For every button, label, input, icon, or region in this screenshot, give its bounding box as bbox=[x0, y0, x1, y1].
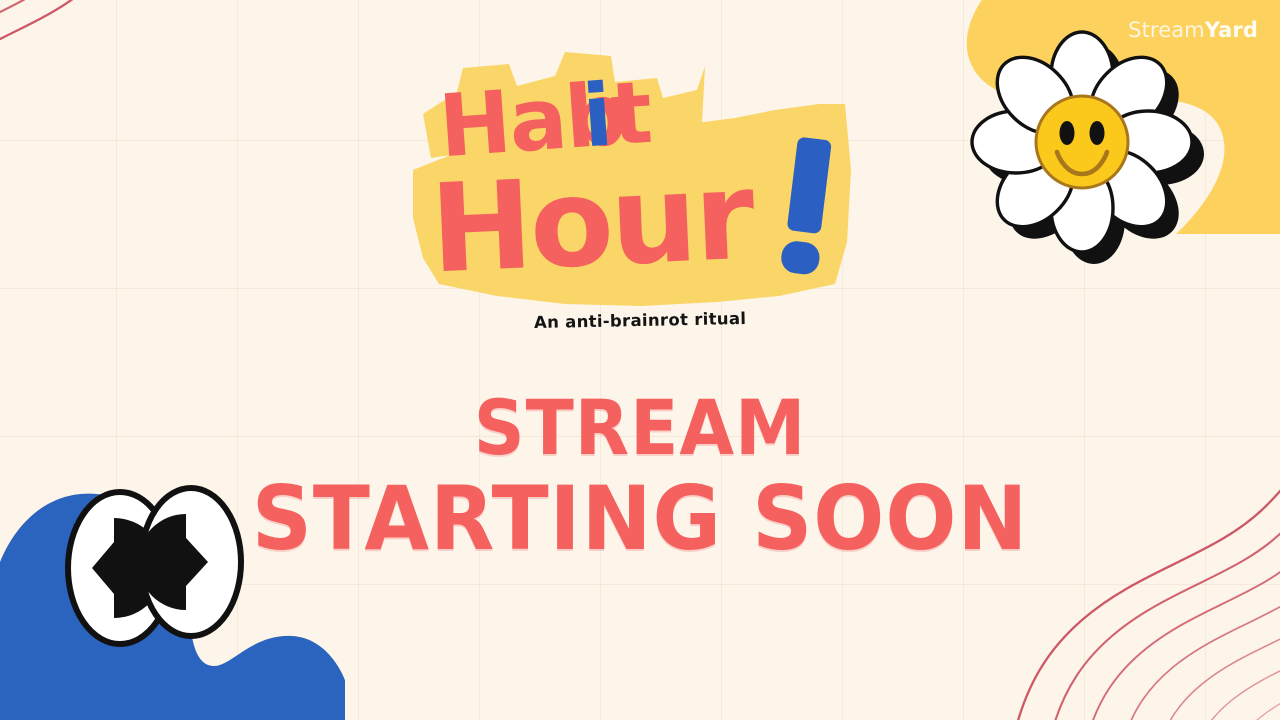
headline-line-1: STREAM bbox=[45, 392, 1235, 465]
logo-svg: Hab i t Hour bbox=[405, 52, 875, 317]
habit-hour-logo-art: Hab i t Hour bbox=[405, 52, 875, 317]
watermark-bold-text: Yard bbox=[1205, 18, 1258, 42]
streamyard-watermark: StreamYard bbox=[1128, 18, 1258, 42]
stream-starting-soon-screen: Hab i t Hour An anti-brainrot ritual STR… bbox=[0, 0, 1280, 720]
habit-hour-logo: Hab i t Hour An anti-brainrot ritual bbox=[0, 52, 1280, 330]
page-title: STREAM STARTING SOON bbox=[0, 392, 1280, 561]
watermark-light-text: Stream bbox=[1128, 18, 1205, 42]
logo-word-hour: Hour bbox=[428, 145, 758, 301]
headline-line-2: STARTING SOON bbox=[32, 477, 1248, 561]
logo-tagline: An anti-brainrot ritual bbox=[534, 309, 747, 332]
svg-text:Hour: Hour bbox=[428, 145, 758, 301]
